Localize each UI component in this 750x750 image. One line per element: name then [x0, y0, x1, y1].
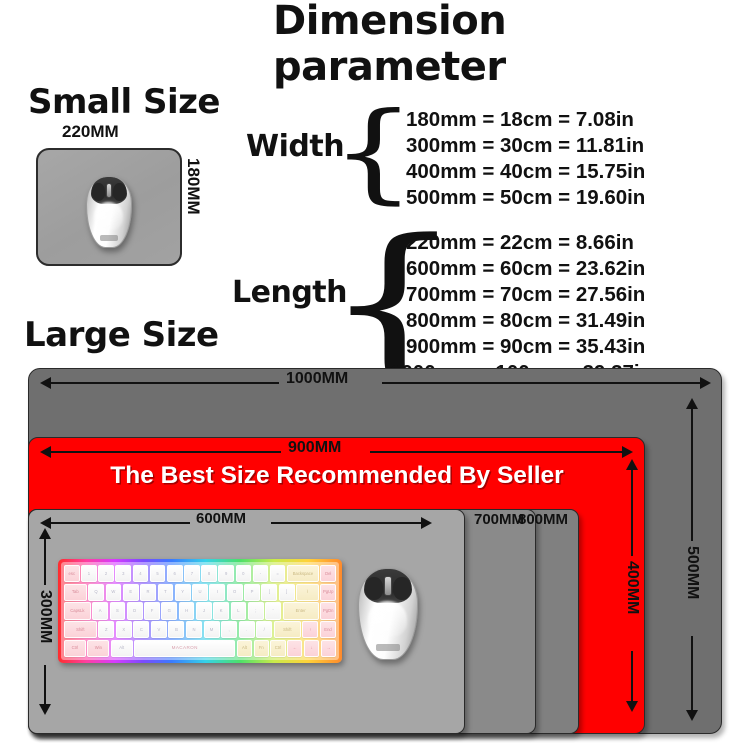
key: W: [106, 584, 122, 601]
arrow-head-right: [700, 377, 711, 389]
arrow-line: [631, 651, 633, 703]
mouse-highlight: [94, 202, 123, 230]
key: Z: [98, 621, 114, 638]
list-item: 400mm = 40cm = 15.75in: [406, 159, 645, 185]
key: Tab: [64, 584, 87, 601]
key: 2: [98, 565, 114, 582]
key: .: [239, 621, 255, 638]
list-item: 700mm = 70cm = 27.56in: [406, 282, 652, 308]
arrow-head-up: [39, 528, 51, 539]
mouse-right-button: [393, 577, 410, 600]
length-rows: 220mm = 22cm = 8.66in 600mm = 60cm = 23.…: [406, 230, 652, 386]
mouse-logo: [100, 235, 118, 241]
keyboard-rows: esc 1 2 3 4 5 6 7 8 9 0 - = Backspace De…: [62, 563, 338, 659]
key: Ctrl: [270, 640, 285, 657]
mouse-left-button: [92, 183, 105, 201]
length-700mm-label: 700MM: [474, 511, 524, 528]
key: S: [110, 602, 126, 619]
small-size-height-label: 180MM: [183, 158, 203, 215]
arrow-head-up: [626, 459, 638, 470]
list-item: 900mm = 90cm = 35.43in: [406, 334, 652, 360]
key: →: [321, 640, 336, 657]
key: R: [140, 584, 156, 601]
page-title: Dimension parameter: [273, 0, 750, 90]
list-item: 220mm = 22cm = 8.66in: [406, 230, 652, 256]
arrow-line: [382, 382, 705, 384]
arrow-line: [51, 522, 190, 524]
key: L: [231, 602, 247, 619]
large-size-title: Large Size: [24, 315, 219, 355]
key: D: [127, 602, 143, 619]
key: CapsLk: [64, 602, 91, 619]
key: 1: [81, 565, 97, 582]
key: Backspace: [287, 565, 319, 582]
mouse-body: [358, 568, 418, 660]
key: A: [92, 602, 108, 619]
arrow-line: [691, 636, 693, 712]
width-rows: 180mm = 18cm = 7.08in 300mm = 30cm = 11.…: [406, 107, 645, 211]
arrow-line: [691, 409, 693, 541]
arrow-line: [370, 451, 625, 453]
key: ': [265, 602, 281, 619]
key: T: [158, 584, 174, 601]
key: 6: [167, 565, 183, 582]
width-400mm-label: 400MM: [623, 561, 641, 614]
key: 0: [236, 565, 252, 582]
key: G: [161, 602, 177, 619]
arrow-line: [44, 539, 46, 585]
key: K: [213, 602, 229, 619]
arrow-line: [51, 382, 279, 384]
key: J: [196, 602, 212, 619]
list-item: 300mm = 30cm = 11.81in: [406, 133, 645, 159]
length-1000mm-label: 1000MM: [286, 370, 348, 388]
width-500mm-label: 500MM: [683, 546, 701, 599]
key: 7: [184, 565, 200, 582]
key: ↑: [302, 621, 318, 638]
keyboard-row: Tab Q W E R T Y U I O P [ ] \ PgUp: [64, 584, 336, 601]
key: U: [192, 584, 208, 601]
key: Enter: [283, 602, 319, 619]
key: [: [261, 584, 277, 601]
key: Win: [87, 640, 109, 657]
keyboard-row: Ctrl Win Alt MACARON Alt Fn Ctrl ← ↓ →: [64, 640, 336, 657]
mouse-icon: [86, 176, 132, 248]
arrow-head-up: [686, 398, 698, 409]
key: P: [244, 584, 260, 601]
infographic-canvas: Dimension parameter Width { 180mm = 18cm…: [0, 0, 750, 750]
key: ↓: [304, 640, 319, 657]
key: esc: [64, 565, 80, 582]
mouse-scroll-wheel: [384, 576, 392, 596]
key: Fn: [254, 640, 269, 657]
key: Del: [320, 565, 336, 582]
key: H: [179, 602, 195, 619]
key: ;: [248, 602, 264, 619]
arrow-head-down: [626, 701, 638, 712]
mouse-left-button: [365, 577, 382, 600]
key: X: [116, 621, 132, 638]
arrow-line: [631, 470, 633, 556]
arrow-line: [271, 522, 423, 524]
list-item: 600mm = 60cm = 23.62in: [406, 256, 652, 282]
key: ←: [287, 640, 302, 657]
key: PgUp: [320, 584, 336, 601]
key: End: [320, 621, 336, 638]
width-brace-icon: {: [330, 90, 416, 215]
key: V: [151, 621, 167, 638]
list-item: 800mm = 80cm = 31.49in: [406, 308, 652, 334]
length-600mm-label: 600MM: [196, 510, 246, 527]
key: Y: [175, 584, 191, 601]
keyboard-row: Shift Z X C V B N M , . / Shift ↑ End: [64, 621, 336, 638]
mouse-logo: [376, 644, 399, 651]
length-900mm-label: 900MM: [288, 439, 341, 457]
key: Shift: [274, 621, 301, 638]
key: I: [209, 584, 225, 601]
arrow-head-right: [421, 517, 432, 529]
key: O: [227, 584, 243, 601]
key: 5: [150, 565, 166, 582]
mechanical-keyboard: esc 1 2 3 4 5 6 7 8 9 0 - = Backspace De…: [58, 559, 342, 663]
arrow-head-right: [622, 446, 633, 458]
key: Alt: [111, 640, 133, 657]
key: B: [168, 621, 184, 638]
key: 4: [133, 565, 149, 582]
key: Ctrl: [64, 640, 86, 657]
key: M: [204, 621, 220, 638]
key: 9: [218, 565, 234, 582]
key: /: [256, 621, 272, 638]
arrow-head-down: [686, 710, 698, 721]
key: -: [253, 565, 269, 582]
key: 3: [115, 565, 131, 582]
arrow-head-down: [39, 704, 51, 715]
width-group-label: Width: [246, 132, 344, 162]
key: Alt: [237, 640, 252, 657]
mouse-body: [86, 176, 132, 248]
width-300mm-label: 300MM: [36, 590, 54, 643]
key: Q: [88, 584, 104, 601]
key: 8: [201, 565, 217, 582]
keyboard-row: esc 1 2 3 4 5 6 7 8 9 0 - = Backspace De…: [64, 565, 336, 582]
keyboard-row: CapsLk A S D F G H J K L ; ' Enter PgDn: [64, 602, 336, 619]
mouse-icon: [358, 568, 418, 660]
key: PgDn: [320, 602, 336, 619]
mouse-highlight: [368, 601, 406, 637]
key: ,: [221, 621, 237, 638]
recommended-size-banner: The Best Size Recommended By Seller: [42, 462, 632, 490]
small-size-width-label: 220MM: [62, 122, 119, 142]
key-spacebar: MACARON: [134, 640, 235, 657]
key: C: [133, 621, 149, 638]
list-item: 180mm = 18cm = 7.08in: [406, 107, 645, 133]
length-800mm-label: 800MM: [518, 511, 568, 528]
arrow-line: [51, 451, 281, 453]
key: F: [144, 602, 160, 619]
mouse-scroll-wheel: [106, 183, 112, 198]
key: Shift: [64, 621, 97, 638]
small-size-title: Small Size: [28, 82, 220, 122]
key: N: [186, 621, 202, 638]
arrow-line: [44, 665, 46, 706]
arrow-head-left: [40, 377, 51, 389]
arrow-head-left: [40, 446, 51, 458]
key: =: [270, 565, 286, 582]
key: \: [296, 584, 319, 601]
key: E: [123, 584, 139, 601]
key: ]: [279, 584, 295, 601]
